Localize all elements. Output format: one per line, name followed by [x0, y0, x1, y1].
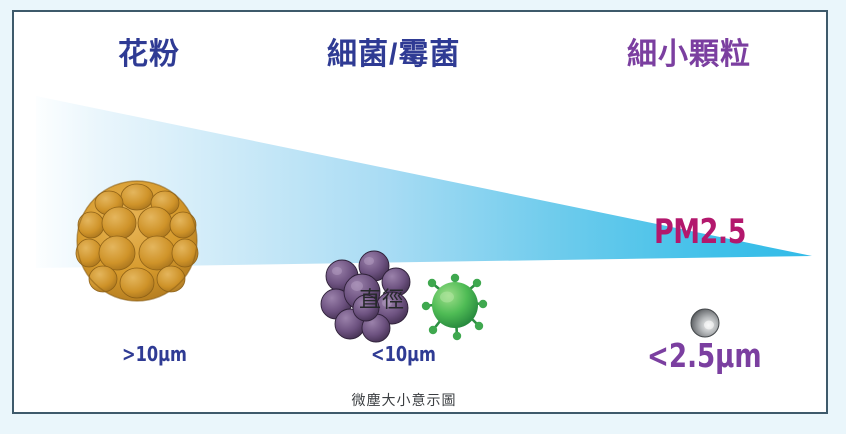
size-label-pollen: >10µm: [122, 342, 187, 366]
size-label-bacteria-mold: <10µm: [371, 342, 436, 366]
size-scale-wedge: PM2.5: [14, 80, 828, 280]
pm25-badge: PM2.5: [654, 212, 746, 252]
category-header-bacteria-mold: 細菌/霉菌: [327, 40, 460, 70]
category-header-row: 花粉 細菌/霉菌 細小顆粒: [14, 32, 826, 80]
size-label-fine-particles: <2.5µm: [647, 336, 762, 375]
diameter-title-text: 直徑: [359, 287, 405, 312]
figure-caption: 微塵大小意示圖: [14, 390, 828, 410]
category-header-fine-particles: 細小顆粒: [627, 40, 751, 70]
figure-caption-text: 微塵大小意示圖: [352, 392, 457, 408]
category-header-pollen: 花粉: [118, 40, 180, 70]
diameter-title: 直徑: [14, 282, 828, 314]
illustration-card: 花粉 細菌/霉菌 細小顆粒: [12, 10, 828, 414]
